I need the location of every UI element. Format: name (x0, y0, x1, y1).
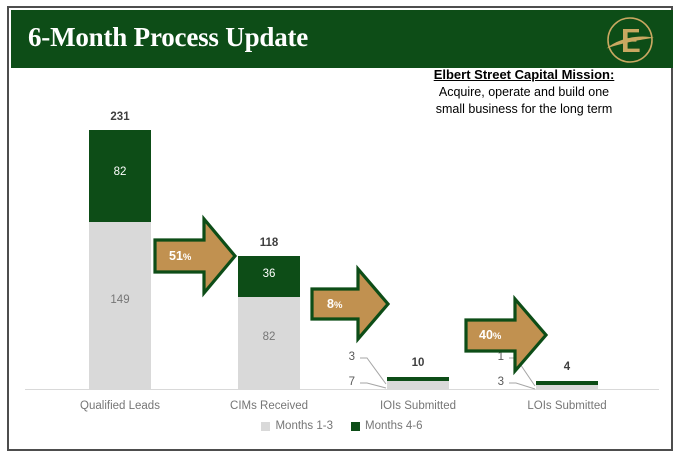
bar-iois-submitted: 10 (387, 377, 449, 389)
legend-swatch-gray (261, 422, 270, 431)
funnel-chart: 231 82 149 118 36 82 10 (11, 68, 673, 449)
bar-segment-months-1-3 (536, 385, 598, 389)
legend-label: Months 1-3 (275, 420, 333, 432)
conversion-arrow-label: 40% (479, 328, 501, 342)
mission-statement: Elbert Street Capital Mission: Acquire, … (381, 66, 667, 118)
bar-segment-value: 82 (89, 166, 151, 178)
x-axis-label-lois-submitted: LOIs Submitted (507, 400, 627, 412)
legend-label: Months 4-6 (365, 420, 423, 432)
slide-header: 6-Month Process Update (11, 10, 673, 68)
conversion-value: 51 (169, 249, 183, 263)
bar-segment-months-4-6: 36 (238, 256, 300, 297)
slide-canvas: 6-Month Process Update 231 82 149 (7, 6, 673, 451)
conversion-arrow-8: 8% (309, 264, 391, 344)
bar-total-label: 10 (387, 357, 449, 369)
conversion-value: 40 (479, 328, 493, 342)
bar-qualified-leads: 231 82 149 (89, 130, 151, 389)
bar-segment-value: 149 (89, 294, 151, 306)
bar-segment-callout-gray: 7 (337, 376, 355, 388)
percent-sign: % (183, 252, 191, 263)
chart-legend: Months 1-3 Months 4-6 (11, 420, 673, 432)
legend-item-months-4-6[interactable]: Months 4-6 (351, 420, 423, 432)
bar-segment-months-4-6: 82 (89, 130, 151, 222)
percent-sign: % (334, 300, 342, 311)
bar-total-label: 118 (238, 237, 300, 249)
bar-segment-callout-green: 3 (337, 351, 355, 363)
conversion-arrow-40: 40% (463, 294, 549, 376)
bar-segment-callout-gray: 3 (486, 376, 504, 388)
page-title: 6-Month Process Update (28, 22, 308, 53)
legend-item-months-1-3[interactable]: Months 1-3 (261, 420, 333, 432)
mission-line-2: small business for the long term (381, 101, 667, 118)
conversion-arrow-51: 51% (152, 214, 238, 298)
conversion-arrow-label: 51% (169, 249, 191, 263)
mission-line-1: Acquire, operate and build one (381, 84, 667, 101)
x-axis-label-iois-submitted: IOIs Submitted (358, 400, 478, 412)
bar-total-label: 231 (89, 111, 151, 123)
conversion-arrow-label: 8% (327, 297, 342, 311)
bar-segment-months-1-3 (387, 381, 449, 389)
x-axis-label-qualified-leads: Qualified Leads (60, 400, 180, 412)
bar-segment-value: 36 (238, 268, 300, 280)
legend-swatch-green (351, 422, 360, 431)
bar-segment-months-1-3: 82 (238, 297, 300, 389)
x-axis-line (25, 389, 659, 390)
elbert-street-capital-monogram-icon (603, 13, 657, 67)
x-axis-label-cims-received: CIMs Received (209, 400, 329, 412)
mission-title: Elbert Street Capital Mission: (381, 66, 667, 84)
percent-sign: % (493, 331, 501, 342)
bar-segment-value: 82 (238, 331, 300, 343)
bar-segment-months-1-3: 149 (89, 222, 151, 389)
conversion-value: 8 (327, 297, 334, 311)
bar-lois-submitted: 4 (536, 381, 598, 389)
bar-cims-received: 118 36 82 (238, 256, 300, 389)
